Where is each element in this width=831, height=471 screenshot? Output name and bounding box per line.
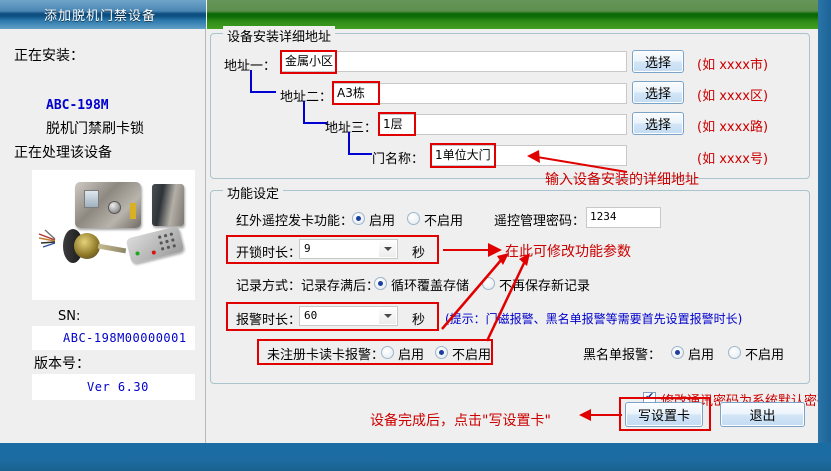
remote-control-image [126,226,185,264]
version-value-box: Ver 6.30 [32,374,195,400]
unregistered-enable-label[interactable]: 启用 [398,344,424,363]
tree-connector-2 [303,101,327,124]
unlock-duration-label: 开锁时长： [236,242,301,261]
left-sidebar: 正在安装： ABC-198M 脱机门禁刷卡锁 正在处理该设备 [0,29,206,443]
sn-value: ABC-198M00000001 [63,331,187,345]
address3-input[interactable]: 1层 [379,114,627,135]
params-annotation: 在此可修改功能参数 [505,241,631,261]
installing-label: 正在安装： [14,45,84,65]
unlock-duration-select[interactable]: 9 [299,239,398,259]
door-name-hint: (如 xxxx号) [697,148,768,167]
ir-function-label: 红外遥控发卡功能： [236,210,353,229]
address1-hint: (如 xxxx市) [697,54,768,73]
door-name-input[interactable]: 1单位大门 [431,145,627,166]
window-right-border [818,0,831,471]
device-name: 脱机门禁刷卡锁 [46,118,144,138]
address2-hint: (如 xxxx区) [697,85,768,104]
alarm-duration-value: 60 [304,309,317,322]
blacklist-alarm-label: 黑名单报警： [583,344,661,363]
unlock-duration-value: 9 [304,242,311,255]
address-group-title: 设备安装详细地址 [223,26,335,45]
ir-enable-radio[interactable] [352,212,365,225]
chevron-down-icon[interactable] [379,241,396,257]
address1-select-button[interactable]: 选择 [632,50,684,73]
blacklist-disable-label[interactable]: 不启用 [745,344,784,363]
titlebar-green [207,0,831,29]
chevron-down-icon-2[interactable] [379,308,396,324]
unregistered-enable-radio[interactable] [381,346,394,359]
unlock-duration-unit: 秒 [412,242,425,261]
application-window: 添加脱机门禁设备 正在安装： ABC-198M 脱机门禁刷卡锁 正在处理该设备 [0,0,831,471]
address3-select-button[interactable]: 选择 [632,112,684,135]
remote-password-label: 遥控管理密码： [494,210,585,229]
address-annotation: 输入设备安装的详细地址 [545,169,699,189]
ir-disable-radio[interactable] [407,212,420,225]
ir-disable-label[interactable]: 不启用 [424,210,463,229]
address1-input[interactable]: 金属小区 [281,51,627,72]
record-mode-label: 记录方式：记录存满后： [236,275,379,294]
blacklist-enable-label[interactable]: 启用 [688,344,714,363]
address2-input[interactable]: A3栋 [333,83,627,104]
device-photo [32,170,195,300]
remote-password-input[interactable]: 1234 [586,207,661,228]
door-name-label: 门名称： [372,148,424,167]
sn-label: SN: [58,309,80,324]
ir-enable-label[interactable]: 启用 [369,210,395,229]
address2-select-button[interactable]: 选择 [632,81,684,104]
record-stop-radio[interactable] [482,277,495,290]
sn-value-box: ABC-198M00000001 [32,326,195,350]
device-model: ABC-198M [46,98,109,113]
version-value: Ver 6.30 [87,380,149,394]
version-label: 版本号： [34,353,90,373]
write-card-annotation: 设备完成后，点击"写设置卡" [370,410,551,430]
exit-button[interactable]: 退出 [720,402,805,427]
tree-connector-3 [348,132,372,155]
blacklist-disable-radio[interactable] [728,346,741,359]
write-setting-card-button[interactable]: 写设置卡 [625,402,703,427]
alarm-duration-label: 报警时长： [236,309,301,328]
alarm-duration-select[interactable]: 60 [299,306,398,326]
function-group-title: 功能设定 [223,183,283,202]
window-bottom-border [0,443,831,471]
main-content: 设备安装详细地址 地址一： 金属小区 选择 (如 xxxx市) 地址二： A3栋… [207,29,818,443]
address3-hint: (如 xxxx路) [697,116,768,135]
unregistered-alarm-label: 未注册卡读卡报警： [267,344,384,363]
unregistered-disable-label[interactable]: 不启用 [452,344,491,363]
window-title: 添加脱机门禁设备 [44,5,156,24]
record-overwrite-label[interactable]: 循环覆盖存储 [391,275,469,294]
record-overwrite-radio[interactable] [374,277,387,290]
record-stop-label[interactable]: 不再保存新记录 [499,275,590,294]
tree-connector-1 [250,70,276,93]
alarm-tip: (提示：门磁报警、黑名单报警等需要首先设置报警时长) [445,310,742,327]
unregistered-disable-radio[interactable] [435,346,448,359]
processing-label: 正在处理该设备 [14,142,112,162]
alarm-duration-unit: 秒 [412,309,425,328]
blacklist-enable-radio[interactable] [671,346,684,359]
